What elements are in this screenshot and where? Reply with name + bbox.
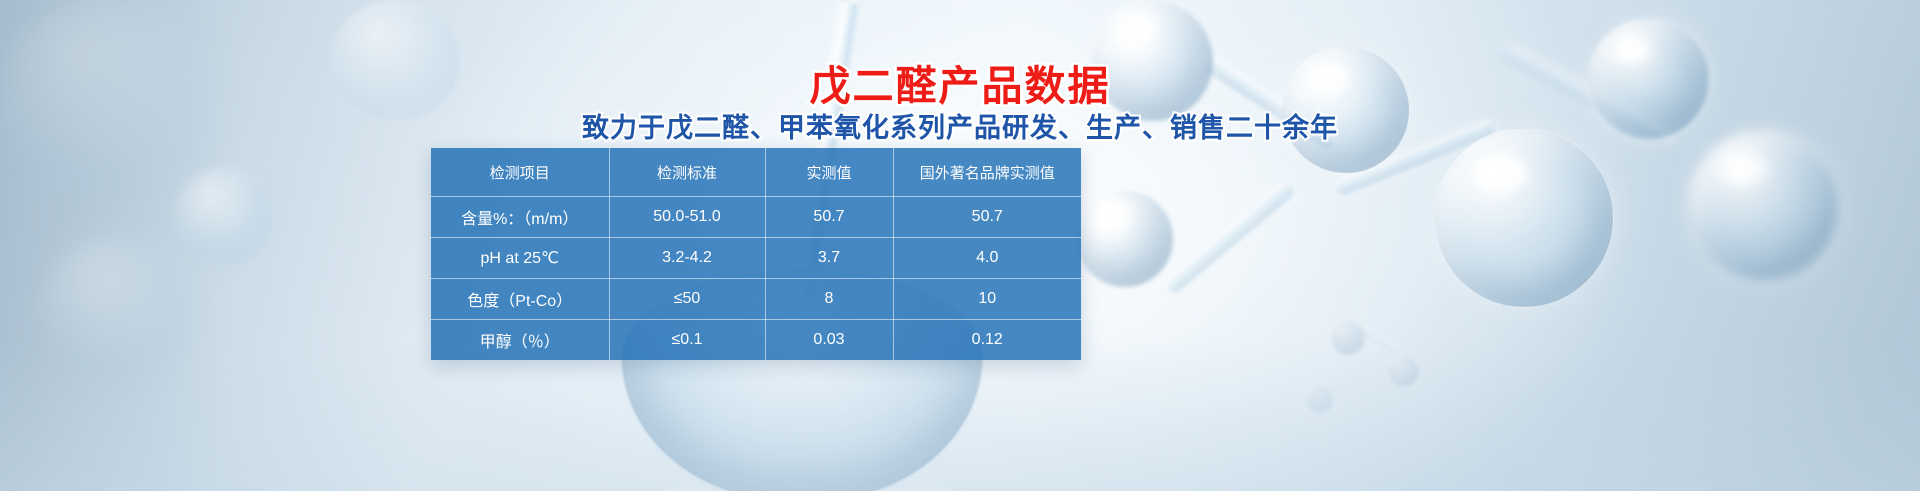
table-row: 甲醇（％） ≤0.1 0.03 0.12 — [431, 320, 1081, 361]
cell-item: 色度（Pt-Co） — [431, 279, 609, 320]
col-header-item: 检测项目 — [431, 148, 609, 197]
cell-measured: 50.7 — [765, 197, 893, 238]
cell-standard: 3.2-4.2 — [609, 238, 765, 279]
bottom-haze-overlay — [0, 341, 1920, 491]
table-row: 含量%：（m/m） 50.0-51.0 50.7 50.7 — [431, 197, 1081, 238]
molecule-bond — [1164, 180, 1297, 295]
cell-measured: 0.03 — [765, 320, 893, 361]
spec-table-container: 检测项目 检测标准 实测值 国外著名品牌实测值 含量%：（m/m） 50.0-5… — [431, 148, 1081, 360]
cell-foreign: 50.7 — [893, 197, 1081, 238]
molecule-atom — [1688, 130, 1840, 282]
table-row: pH at 25℃ 3.2-4.2 3.7 4.0 — [431, 238, 1081, 279]
col-header-measured: 实测值 — [765, 148, 893, 197]
table-header-row: 检测项目 检测标准 实测值 国外著名品牌实测值 — [431, 148, 1081, 197]
col-header-foreign: 国外著名品牌实测值 — [893, 148, 1081, 197]
cell-standard: ≤50 — [609, 279, 765, 320]
cell-standard: 50.0-51.0 — [609, 197, 765, 238]
cell-item: 甲醇（％） — [431, 320, 609, 361]
table-row: 色度（Pt-Co） ≤50 8 10 — [431, 279, 1081, 320]
molecule-atom — [1434, 128, 1614, 308]
product-spec-table: 检测项目 检测标准 实测值 国外著名品牌实测值 含量%：（m/m） 50.0-5… — [431, 148, 1081, 360]
cell-item: 含量%：（m/m） — [431, 197, 609, 238]
molecule-atom — [1076, 190, 1174, 288]
cell-measured: 3.7 — [765, 238, 893, 279]
page-subtitle: 致力于戊二醛、甲苯氧化系列产品研发、生产、销售二十余年 — [0, 106, 1920, 145]
page-title: 戊二醛产品数据 — [0, 52, 1920, 112]
cell-item: pH at 25℃ — [431, 238, 609, 279]
cell-foreign: 10 — [893, 279, 1081, 320]
cell-foreign: 4.0 — [893, 238, 1081, 279]
cell-standard: ≤0.1 — [609, 320, 765, 361]
cell-foreign: 0.12 — [893, 320, 1081, 361]
col-header-standard: 检测标准 — [609, 148, 765, 197]
cell-measured: 8 — [765, 279, 893, 320]
product-data-banner: 戊二醛产品数据 致力于戊二醛、甲苯氧化系列产品研发、生产、销售二十余年 检测项目… — [0, 0, 1920, 491]
